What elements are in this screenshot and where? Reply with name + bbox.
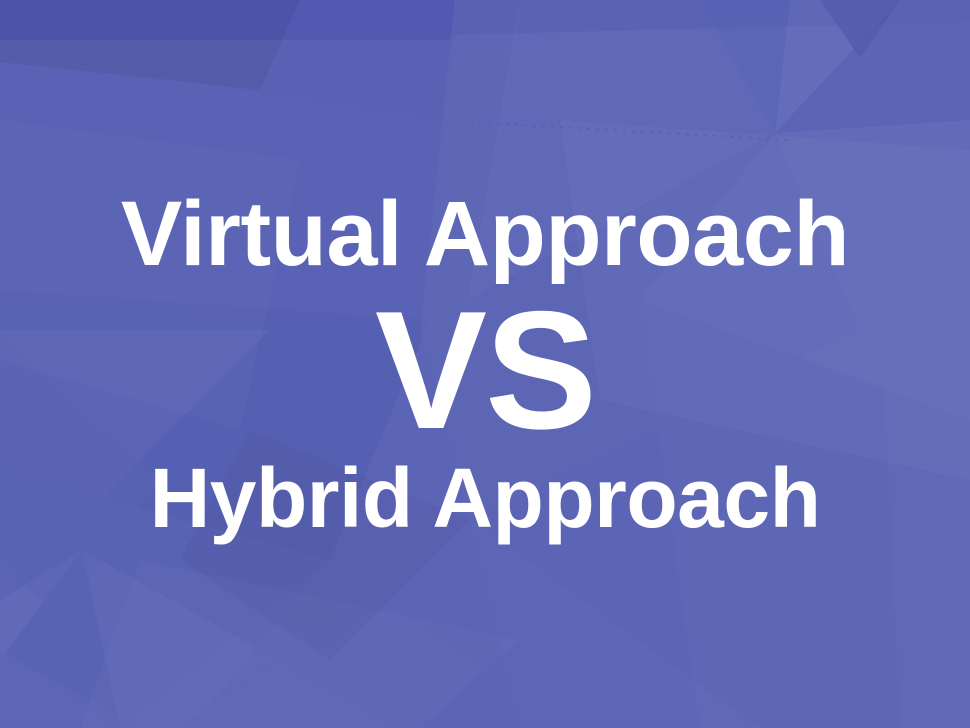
headline-stack: Virtual Approach VS Hybrid Approach [0,0,970,728]
headline-versus: VS [375,286,595,454]
headline-hybrid-approach: Hybrid Approach [150,456,821,540]
slide-canvas: Virtual Approach VS Hybrid Approach [0,0,970,728]
headline-virtual-approach: Virtual Approach [121,188,849,280]
